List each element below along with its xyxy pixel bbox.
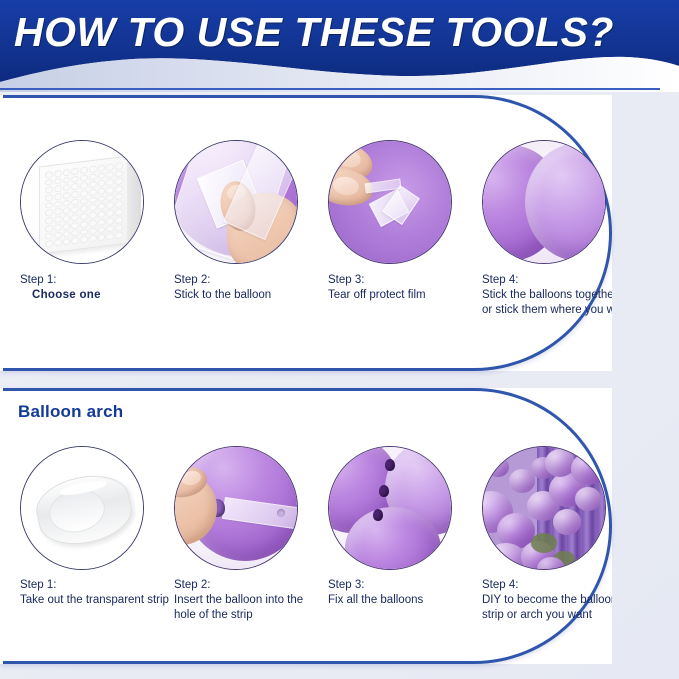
panel-content: Balloon arch Step 1: <box>0 388 612 664</box>
step-label: Step 3: <box>328 273 508 288</box>
transparent-tape-roll-photo <box>20 446 144 570</box>
panel-content: Step 1: Choose one <box>0 95 612 371</box>
step-caption: Step 2: Stick to the balloon <box>174 273 354 303</box>
step-caption: Step 4: DIY to become the balloon strip … <box>482 578 612 623</box>
step-label: Step 4: <box>482 578 612 593</box>
steps-row: Step 1: Choose one <box>0 95 612 371</box>
step-caption: Step 4: Stick the balloons together or s… <box>482 273 612 318</box>
step-label: Step 1: <box>20 273 200 288</box>
step-description: Tear off protect film <box>328 288 508 303</box>
step-description: Take out the transparent strip <box>20 593 200 608</box>
header-underline <box>0 88 660 90</box>
hand-sticking-strip-to-balloon-photo <box>174 140 298 264</box>
step-caption: Step 2: Insert the balloon into the hole… <box>174 578 354 623</box>
step-caption: Step 3: Tear off protect film <box>328 273 508 303</box>
step-description-line2: or stick them where you want <box>482 303 612 318</box>
glue-dot-sheet-shape <box>39 155 129 254</box>
peeling-protective-film-photo <box>328 140 452 264</box>
inserting-balloon-into-strip-photo <box>174 446 298 570</box>
step-caption: Step 1: Take out the transparent strip <box>20 578 200 608</box>
step-description: Stick the balloons together <box>482 288 612 303</box>
step-description-line2: strip or arch you want <box>482 608 612 623</box>
finished-balloon-arch-photo <box>482 446 606 570</box>
balloons-fixed-together-photo <box>328 446 452 570</box>
step-caption: Step 3: Fix all the balloons <box>328 578 508 608</box>
step-description: DIY to become the balloon <box>482 593 612 608</box>
page-title: HOW TO USE THESE TOOLS? <box>14 6 674 58</box>
two-balloons-stuck-together-photo <box>482 140 606 264</box>
step-label: Step 2: <box>174 273 354 288</box>
step-label: Step 3: <box>328 578 508 593</box>
step-label: Step 2: <box>174 578 354 593</box>
panel-balloon-arch: Balloon arch Step 1: <box>0 388 612 664</box>
step-description: Insert the balloon into the <box>174 593 354 608</box>
step-description: Fix all the balloons <box>328 593 508 608</box>
step-caption: Step 1: Choose one <box>20 273 200 303</box>
step-description: Stick to the balloon <box>174 288 354 303</box>
infographic-page: HOW TO USE THESE TOOLS? <box>0 0 679 679</box>
step-label: Step 1: <box>20 578 200 593</box>
steps-row: Step 1: Take out the transparent strip <box>0 388 612 664</box>
panel-how-to-use-tools: Step 1: Choose one <box>0 95 612 371</box>
glue-dot-sheet-photo <box>20 140 144 264</box>
header-banner: HOW TO USE THESE TOOLS? <box>0 0 679 92</box>
step-description: Choose one <box>20 288 200 303</box>
tape-roll-shape <box>37 477 131 543</box>
step-label: Step 4: <box>482 273 612 288</box>
step-description-line2: hole of the strip <box>174 608 354 623</box>
